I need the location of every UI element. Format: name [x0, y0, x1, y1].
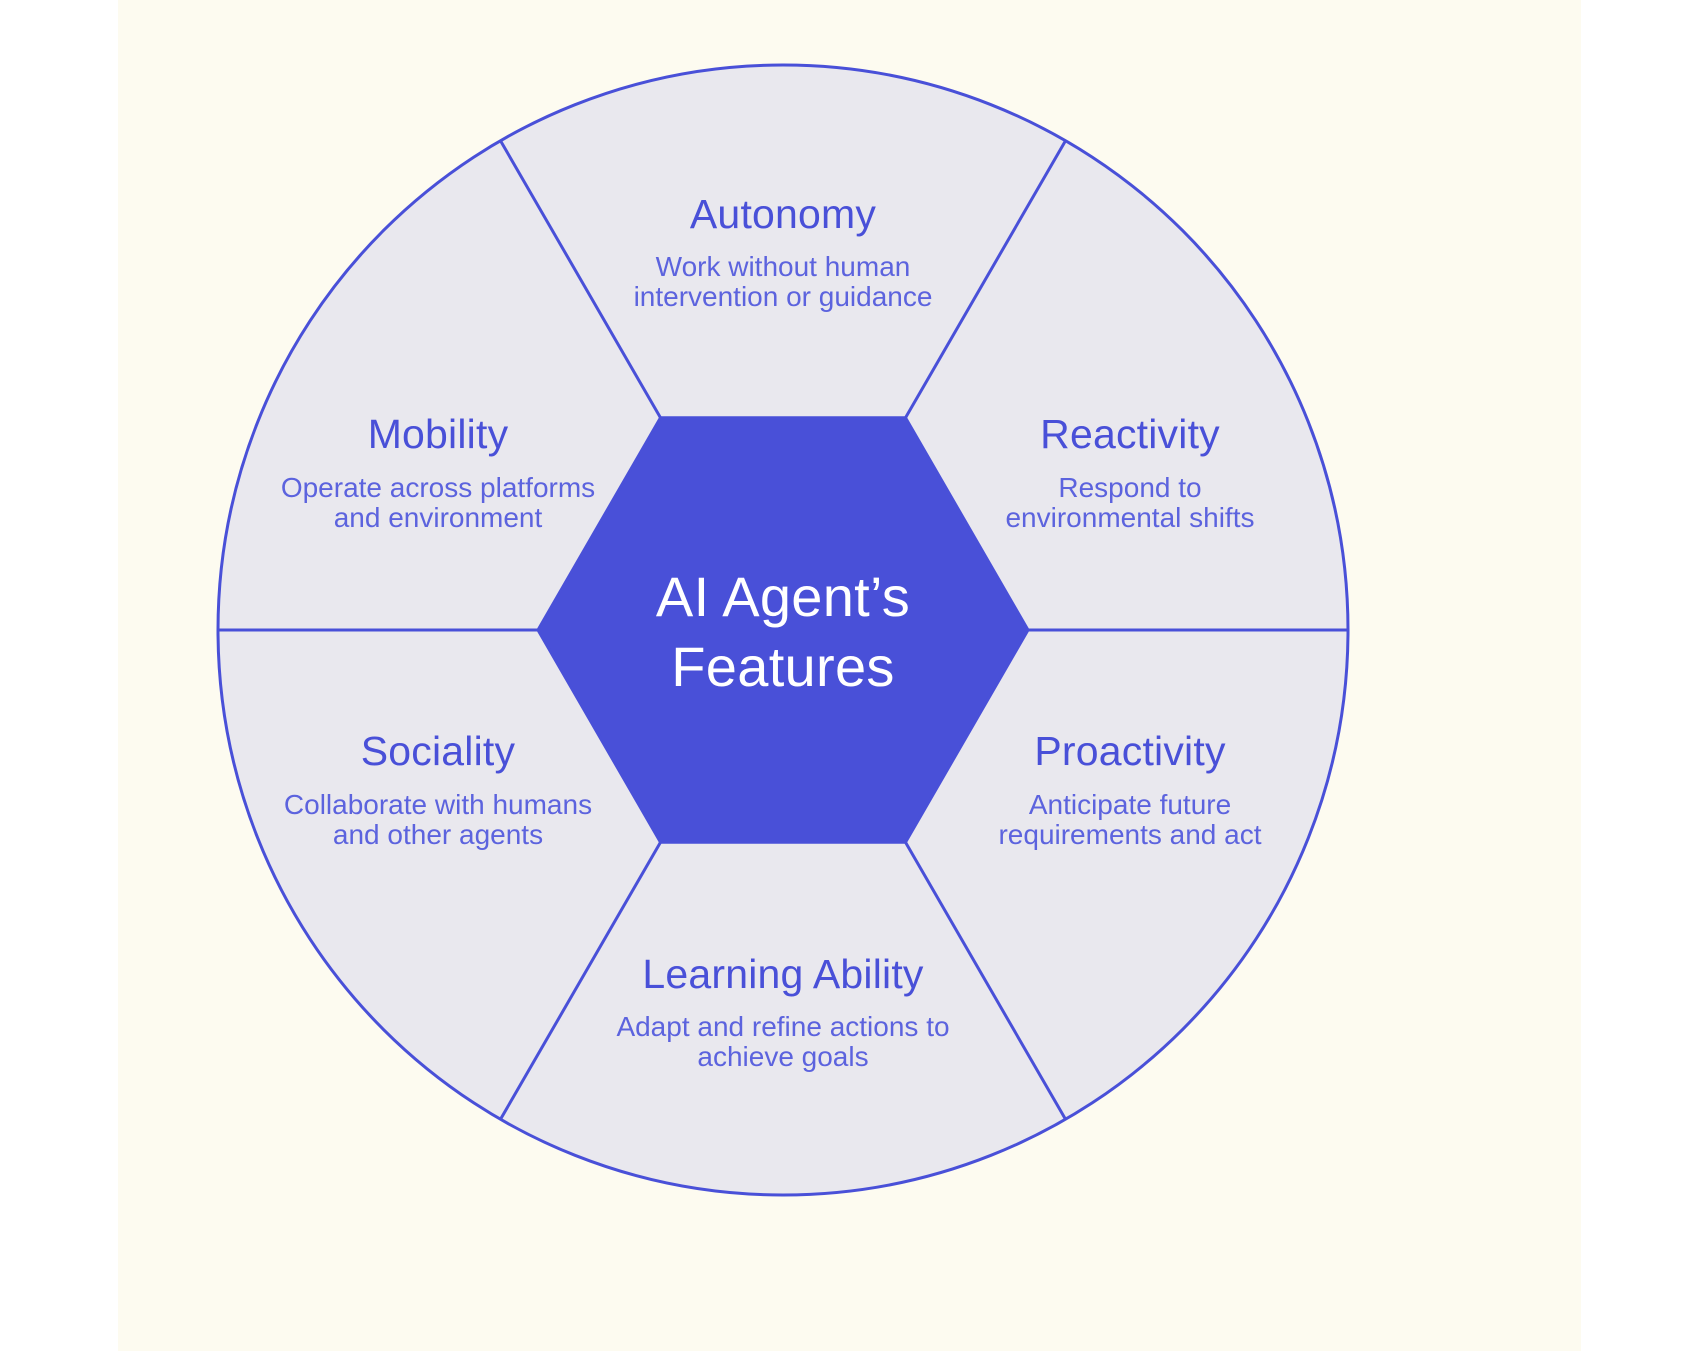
segment-reactivity-title: Reactivity	[1040, 411, 1220, 457]
ai-agent-features-wheel: AI Agent’s Features Autonomy Work withou…	[0, 0, 1699, 1351]
segment-mobility-title: Mobility	[368, 411, 509, 457]
segment-reactivity-desc-line1: Respond to	[1058, 472, 1201, 503]
segment-reactivity-desc-line2: environmental shifts	[1005, 502, 1254, 533]
diagram-canvas: AI Agent’s Features Autonomy Work withou…	[0, 0, 1699, 1351]
segment-autonomy-desc-line1: Work without human	[656, 251, 911, 282]
segment-learning-ability-title: Learning Ability	[642, 951, 924, 997]
segment-sociality-desc-line1: Collaborate with humans	[284, 789, 592, 820]
segment-autonomy-title: Autonomy	[690, 191, 877, 237]
segment-mobility-desc-line2: and environment	[334, 502, 543, 533]
center-title-line1: AI Agent’s	[656, 565, 910, 628]
segment-autonomy-desc-line2: intervention or guidance	[634, 281, 933, 312]
segment-mobility-desc-line1: Operate across platforms	[281, 472, 595, 503]
segment-sociality-title: Sociality	[361, 728, 516, 774]
segment-proactivity[interactable]: Proactivity Anticipate future requiremen…	[998, 728, 1261, 850]
segment-learning-ability-desc-line2: achieve goals	[697, 1041, 868, 1072]
center-title-line2: Features	[671, 635, 894, 698]
segment-learning-ability-desc-line1: Adapt and refine actions to	[616, 1011, 949, 1042]
segment-proactivity-desc-line1: Anticipate future	[1029, 789, 1231, 820]
segment-sociality-desc-line2: and other agents	[333, 819, 543, 850]
segment-proactivity-desc-line2: requirements and act	[998, 819, 1261, 850]
segment-proactivity-title: Proactivity	[1034, 728, 1226, 774]
